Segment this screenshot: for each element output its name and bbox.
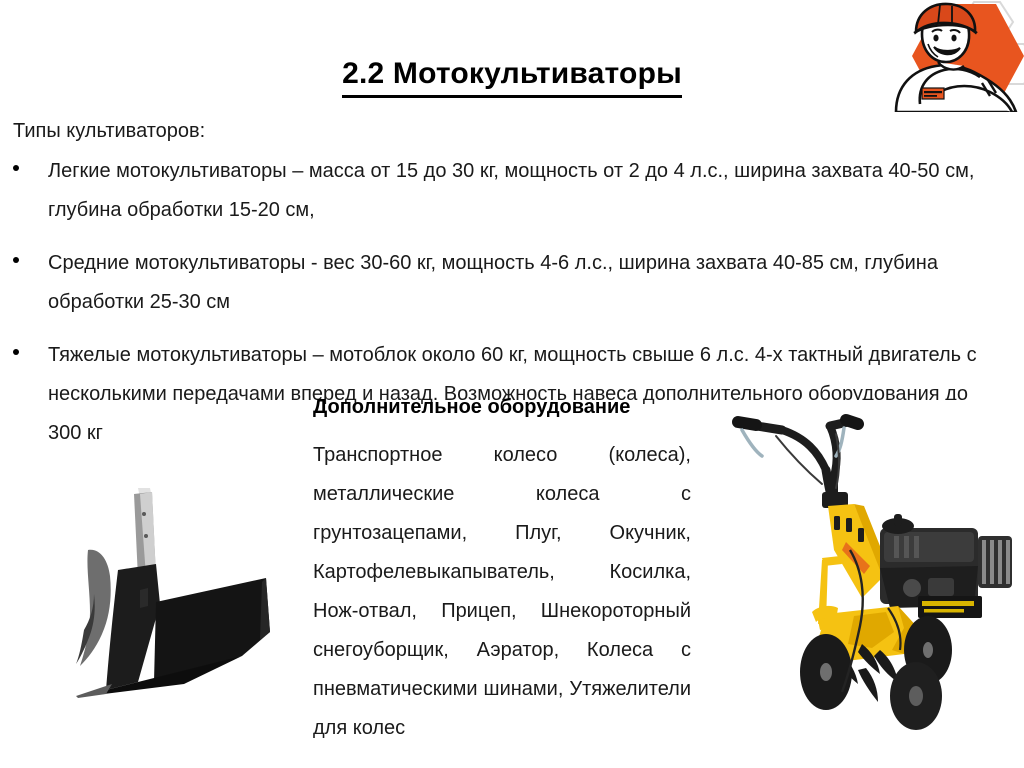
bullet-icon [13, 257, 19, 263]
plow-attachment-image [34, 444, 306, 706]
list-item-text: Средние мотокультиваторы - вес 30-60 кг,… [48, 244, 996, 322]
list-item-text: Легкие мотокультиваторы – масса от 15 до… [48, 152, 996, 230]
intro-label: Типы культиваторов: [13, 117, 205, 145]
list-item: Средние мотокультиваторы - вес 30-60 кг,… [0, 244, 1010, 322]
additional-equipment-text: Транспортное колесо (колеса), металличес… [313, 436, 691, 748]
presentation-slide: 2.2 Мотокультиваторы Типы культиваторов:… [0, 0, 1024, 768]
list-item: Легкие мотокультиваторы – масса от 15 до… [0, 152, 1010, 230]
additional-equipment-block: Дополнительное оборудование Транспортное… [313, 392, 691, 748]
bullet-icon [13, 165, 19, 171]
lower-section: Дополнительное оборудование Транспортное… [0, 392, 1024, 768]
page-title-text: 2.2 Мотокультиваторы [342, 54, 682, 98]
bullet-icon [13, 349, 19, 355]
page-title: 2.2 Мотокультиваторы [0, 54, 1024, 98]
additional-equipment-heading: Дополнительное оборудование [313, 392, 691, 422]
motor-cultivator-image [722, 400, 1022, 736]
